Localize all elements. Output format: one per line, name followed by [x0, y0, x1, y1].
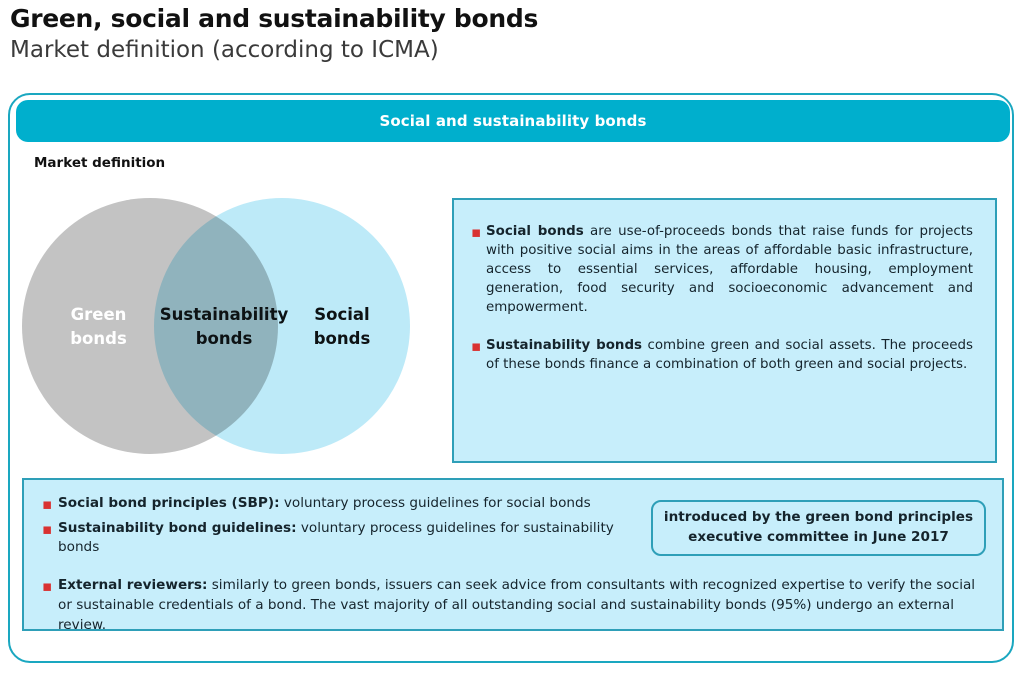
principles-panel: ▪ Social bond principles (SBP): voluntar…: [22, 478, 1004, 631]
definition-bullet-social-bonds-text: Social bonds are use-of-proceeds bonds t…: [486, 222, 973, 317]
principles-top-row: ▪ Social bond principles (SBP): voluntar…: [38, 494, 986, 558]
definition-bullet-sustainability-bonds: ▪ Sustainability bonds combine green and…: [468, 336, 973, 374]
market-definition-label: Market definition: [34, 155, 165, 171]
principle-item-sbp-body: voluntary process guidelines for social …: [280, 495, 591, 511]
venn-label-sustainability-bonds: Sustainability bonds: [144, 303, 304, 351]
section-banner: Social and sustainability bonds: [16, 100, 1010, 142]
principle-item-sustainability-guidelines: ▪ Sustainability bond guidelines: volunt…: [38, 519, 648, 558]
bullet-marker-icon: ▪: [468, 336, 486, 357]
bullet-marker-icon: ▪: [38, 519, 58, 541]
principle-item-sbp: ▪ Social bond principles (SBP): voluntar…: [38, 494, 648, 516]
venn-label-social-bonds-line1: Social: [288, 303, 396, 327]
definitions-box: ▪ Social bonds are use-of-proceeds bonds…: [452, 198, 997, 463]
principle-item-sustainability-guidelines-text: Sustainability bond guidelines: voluntar…: [58, 519, 648, 558]
venn-label-green-bonds: Green bonds: [46, 303, 151, 351]
page-title-block: Green, social and sustainability bonds M…: [10, 4, 910, 64]
bullet-marker-icon: ▪: [38, 576, 58, 598]
definition-bullet-sustainability-bonds-lead: Sustainability bonds: [486, 338, 642, 353]
external-reviewers-text: External reviewers: similarly to green b…: [58, 576, 986, 635]
page-subtitle: Market definition (according to ICMA): [10, 36, 910, 65]
principle-item-sbp-text: Social bond principles (SBP): voluntary …: [58, 494, 591, 514]
venn-label-social-bonds-line2: bonds: [288, 327, 396, 351]
external-reviewers-lead: External reviewers:: [58, 577, 207, 593]
content-frame: Social and sustainability bonds Market d…: [8, 93, 1014, 663]
definition-bullet-social-bonds: ▪ Social bonds are use-of-proceeds bonds…: [468, 222, 973, 317]
principle-item-sustainability-guidelines-lead: Sustainability bond guidelines:: [58, 520, 297, 536]
venn-label-green-bonds-line2: bonds: [46, 327, 151, 351]
venn-diagram: Green bonds Sustainability bonds Social …: [16, 190, 436, 460]
venn-label-green-bonds-line1: Green: [46, 303, 151, 327]
external-reviewers-item: ▪ External reviewers: similarly to green…: [38, 576, 986, 635]
venn-label-sustainability-bonds-line2: bonds: [144, 327, 304, 351]
page-title: Green, social and sustainability bonds: [10, 4, 910, 35]
callout-line-1: introduced by the green bond principles: [661, 508, 976, 528]
definition-bullet-social-bonds-lead: Social bonds: [486, 224, 584, 239]
venn-label-sustainability-bonds-line1: Sustainability: [144, 303, 304, 327]
callout-line-2: executive committee in June 2017: [661, 528, 976, 548]
principle-item-sbp-lead: Social bond principles (SBP):: [58, 495, 280, 511]
venn-label-social-bonds: Social bonds: [288, 303, 396, 351]
principles-list: ▪ Social bond principles (SBP): voluntar…: [38, 494, 648, 558]
section-banner-label: Social and sustainability bonds: [380, 112, 647, 130]
bullet-marker-icon: ▪: [38, 494, 58, 516]
definition-bullet-sustainability-bonds-text: Sustainability bonds combine green and s…: [486, 336, 973, 374]
bullet-marker-icon: ▪: [468, 222, 486, 243]
callout-box-green-bond-principles: introduced by the green bond principles …: [651, 500, 986, 556]
